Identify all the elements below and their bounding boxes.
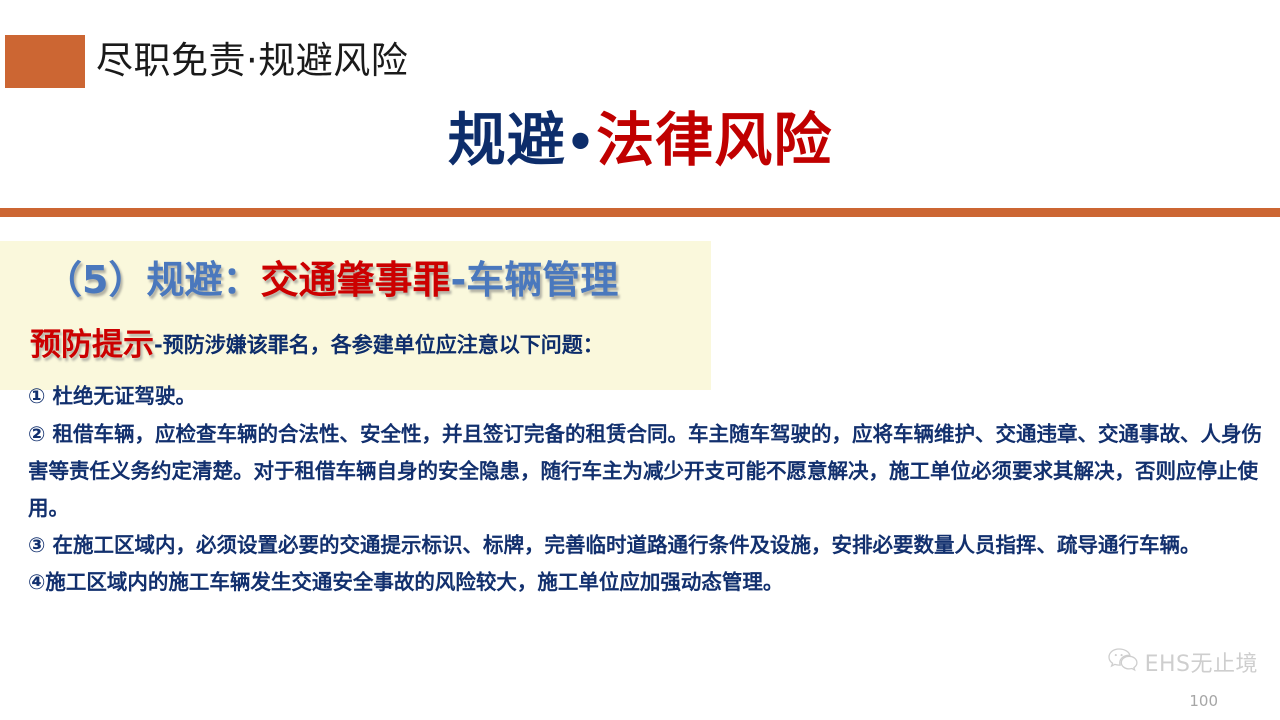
- section-heading: （5）规避：交通肇事罪-车辆管理: [44, 256, 618, 304]
- slide-header: 尽职免责·规避风险: [0, 0, 1280, 105]
- slide-title-bullet-dot: •: [566, 115, 596, 169]
- list-item: ② 租借车辆，应检查车辆的合法性、安全性，并且签订完备的租赁合同。车主随车驾驶的…: [28, 416, 1268, 527]
- slide-number: 100: [1189, 692, 1218, 710]
- prevention-tip-label: 预防提示: [30, 327, 154, 363]
- header-accent-block: [5, 35, 85, 88]
- slide-title-blue-part: 规避: [448, 106, 566, 174]
- wechat-icon: [1108, 647, 1138, 677]
- list-item: ① 杜绝无证驾驶。: [28, 378, 1268, 415]
- body-content-list: ① 杜绝无证驾驶。 ② 租借车辆，应检查车辆的合法性、安全性，并且签订完备的租赁…: [28, 378, 1268, 601]
- watermark-text: EHS无止境: [1145, 646, 1258, 678]
- watermark: EHS无止境: [1108, 646, 1258, 678]
- section-heading-suffix: -车辆管理: [450, 258, 618, 302]
- slide-title-red-part: 法律风险: [596, 106, 832, 174]
- prevention-tip-text: -预防涉嫌该罪名，各参建单位应注意以下问题：: [154, 333, 604, 357]
- prevention-tip-line: 预防提示-预防涉嫌该罪名，各参建单位应注意以下问题：: [30, 327, 604, 368]
- section-heading-prefix: （5）规避：: [44, 258, 260, 302]
- section-heading-crime: 交通肇事罪: [260, 258, 450, 302]
- header-title: 尽职免责·规避风险: [96, 38, 408, 84]
- list-item: ③ 在施工区域内，必须设置必要的交通提示标识、标牌，完善临时道路通行条件及设施，…: [28, 527, 1268, 564]
- orange-divider-rule: [0, 208, 1280, 217]
- list-item: ④施工区域内的施工车辆发生交通安全事故的风险较大，施工单位应加强动态管理。: [28, 564, 1268, 601]
- slide-main-title: 规避•法律风险: [0, 104, 1280, 178]
